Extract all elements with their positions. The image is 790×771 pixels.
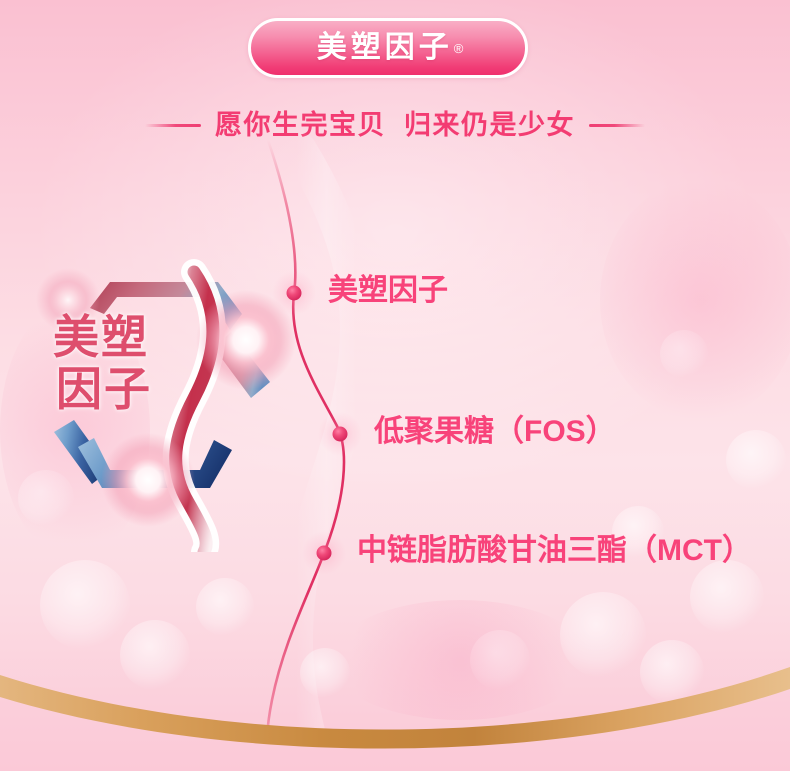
ingredient-label-1: 低聚果糖（FOS） <box>374 417 616 447</box>
tagline-dash-left-icon <box>145 124 201 127</box>
connector-node-dot <box>333 427 348 442</box>
ingredient-label-0: 美塑因子 <box>328 276 448 306</box>
connector-node-dot <box>317 546 332 561</box>
registered-trademark-icon: ® <box>454 42 464 55</box>
glow-orb-icon <box>196 290 296 390</box>
footer-gold-swoosh <box>0 641 790 771</box>
emblem-wordmark: 美塑 因子 <box>26 314 176 412</box>
glow-orb-icon <box>101 433 195 527</box>
emblem-wordmark-line2: 因子 <box>26 366 176 412</box>
bokeh-blob <box>690 560 764 634</box>
product-brand-badge[interactable]: 美塑因子® <box>248 18 528 78</box>
tagline-row: 愿你生完宝贝 归来仍是少女 <box>0 104 790 146</box>
tagline-text: 愿你生完宝贝 归来仍是少女 <box>215 112 575 139</box>
bokeh-blob <box>196 578 254 636</box>
brand-emblem: 美塑 因子 <box>18 252 308 552</box>
bokeh-blob <box>600 180 790 420</box>
bokeh-blob <box>660 330 708 378</box>
bokeh-blob <box>40 560 130 650</box>
emblem-wordmark-line1: 美塑 <box>26 314 176 360</box>
ingredient-label-2: 中链脂肪酸甘油三酯（MCT） <box>357 536 752 566</box>
tagline-dash-right-icon <box>589 124 645 127</box>
brand-badge-title: 美塑因子 <box>313 33 453 63</box>
poster-canvas: 美塑因子® 愿你生完宝贝 归来仍是少女 <box>0 0 790 771</box>
bokeh-blob <box>726 430 786 490</box>
